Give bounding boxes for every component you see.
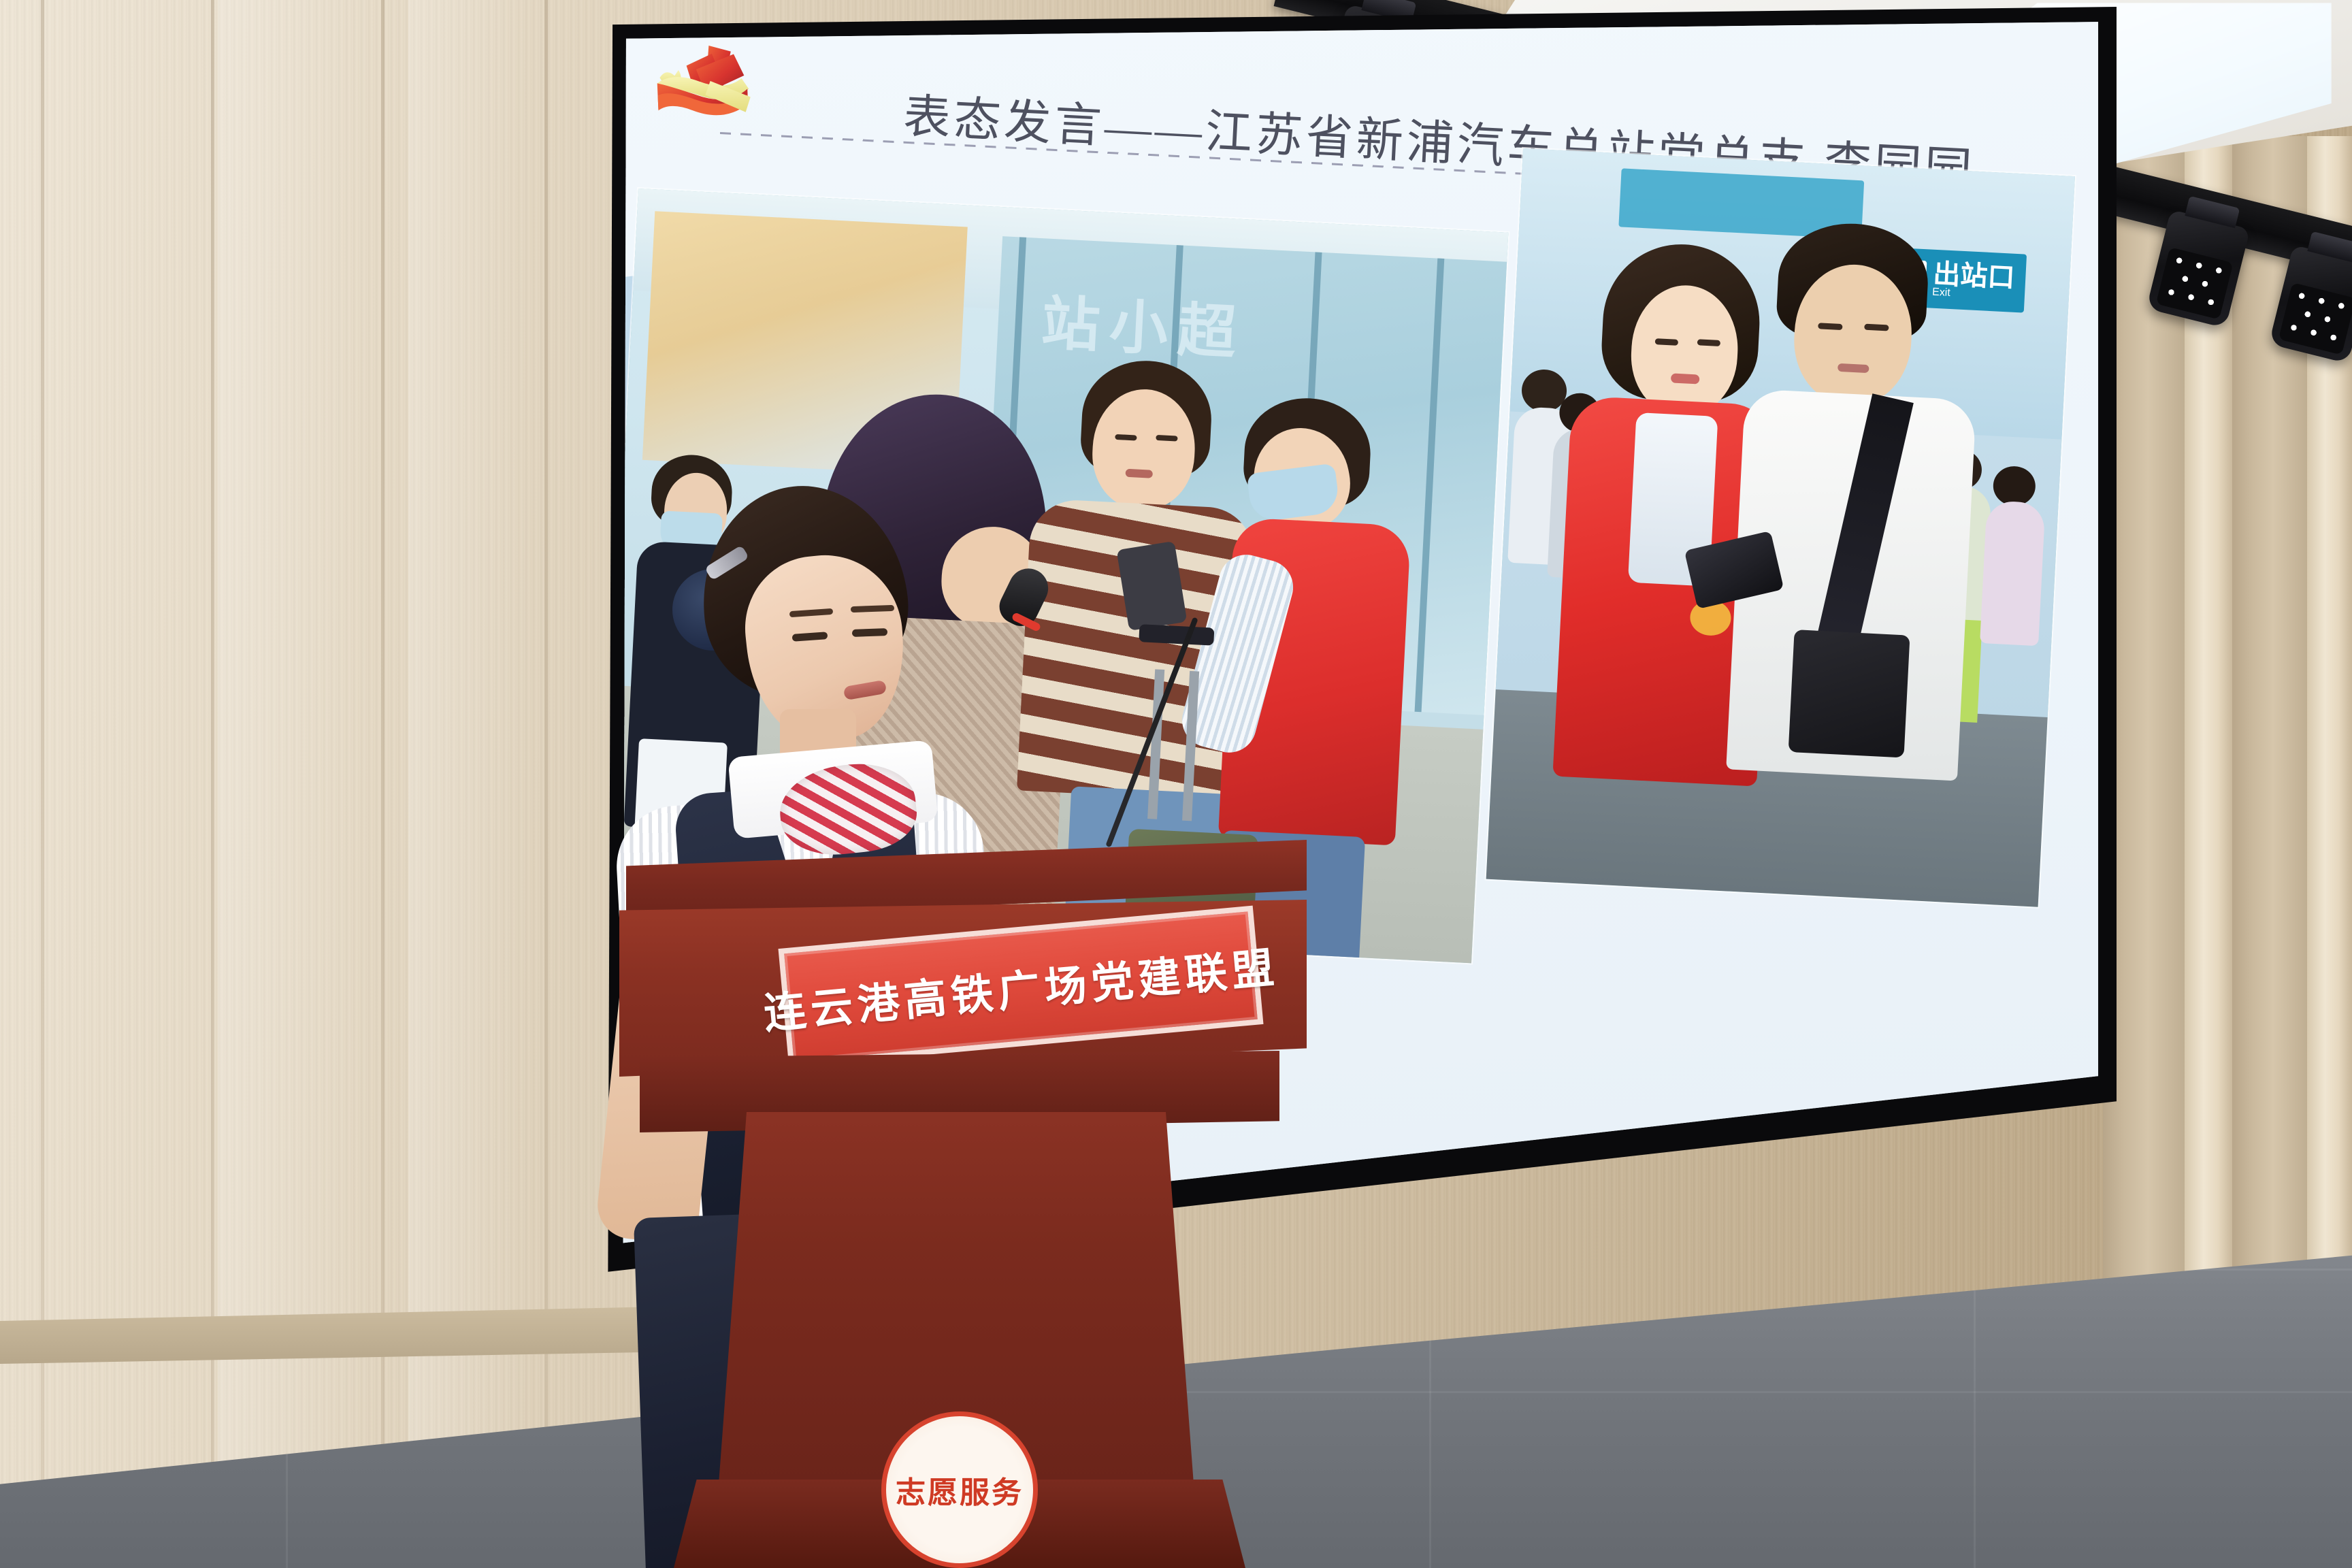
speaking-podium: 连云港高铁广场党建联盟 志愿服务 xyxy=(599,840,1320,1568)
cpc-hammer-sickle-emblem xyxy=(628,38,762,135)
photo-railway-exit-volunteer: 出站口 Exit xyxy=(1486,148,2075,907)
podium-seal-label: 志愿服务 xyxy=(896,1468,1024,1512)
podium-banner-label: 连云港高铁广场党建联盟 xyxy=(761,932,1281,1040)
screenshot-root: 表态发言——江苏省新浦汽车总站党总支 李园园 xyxy=(0,0,2352,1568)
podium-seal-emblem: 志愿服务 xyxy=(881,1411,1038,1568)
